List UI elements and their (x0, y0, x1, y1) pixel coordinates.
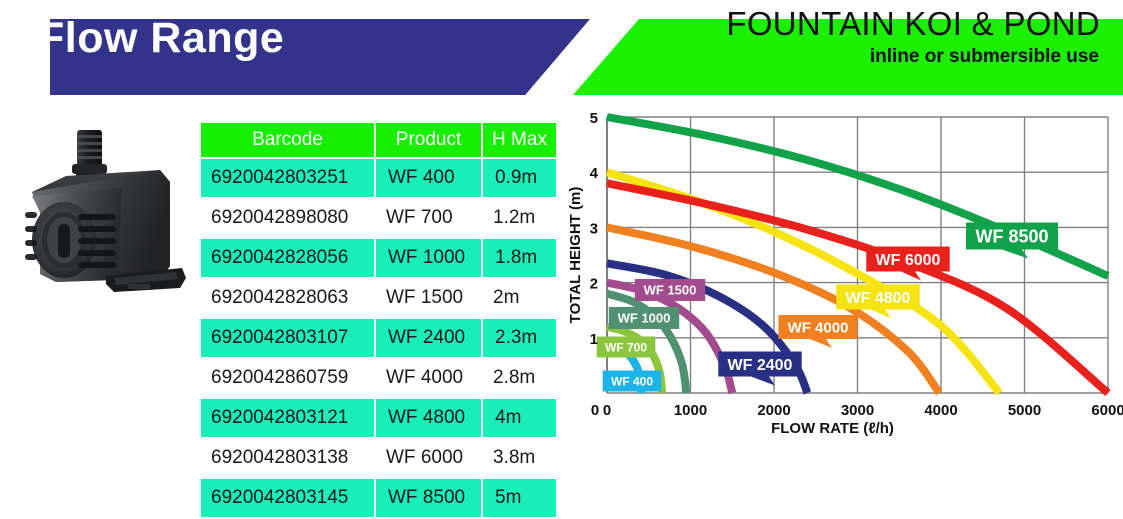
badge-label: WF 8500 (975, 226, 1048, 246)
table-row: 6920042828056WF 10001.8m (201, 239, 556, 277)
cell-barcode: 6920042803251 (201, 159, 374, 197)
badge-label: WF 4800 (846, 290, 911, 307)
column-header-barcode: Barcode (201, 123, 374, 157)
badge-wf-700: WF 700 (597, 337, 656, 358)
cell-hmax: 2m (481, 279, 556, 317)
pump-intake-slot (58, 224, 70, 258)
brand-title: FOUNTAIN KOI & POND (726, 4, 1100, 44)
chart-series-badges: WF 400WF 700WF 1000WF 1500WF 2400WF 4000… (597, 223, 1058, 392)
cell-product: WF 8500 (374, 479, 481, 517)
badge-wf-4800: WF 4800 (836, 285, 919, 319)
cell-product: WF 1000 (374, 239, 481, 277)
y-tick-label: 0 (591, 402, 599, 419)
x-tick-label: 2000 (757, 402, 790, 419)
x-tick-label: 0 (603, 402, 611, 419)
badge-tail (871, 310, 891, 319)
cell-hmax: 0.9m (481, 159, 556, 197)
cell-hmax: 1.2m (481, 199, 556, 237)
cell-hmax: 2.3m (481, 319, 556, 357)
badge-wf-1000: WF 1000 (609, 307, 679, 329)
table-header-row: Barcode Product H Max (201, 123, 556, 157)
cell-hmax: 5m (481, 479, 556, 517)
cell-barcode: 6920042803145 (201, 479, 374, 517)
badge-tail (751, 377, 775, 386)
table-header: Barcode Product H Max (201, 123, 556, 157)
y-tick-label: 3 (590, 220, 598, 237)
table-row: 6920042803251WF 4000.9m (201, 159, 556, 197)
badge-label: WF 2400 (728, 357, 793, 374)
cell-barcode: 6920042803138 (201, 439, 374, 477)
badge-wf-1500: WF 1500 (635, 279, 705, 301)
table-body: 6920042803251WF 4000.9m6920042898080WF 7… (201, 159, 556, 517)
badge-tail (810, 339, 832, 348)
x-axis-title: FLOW RATE (ℓ/h) (771, 420, 894, 437)
chart-gridlines (607, 117, 1108, 393)
x-tick-label: 3000 (841, 402, 874, 419)
table-row: 6920042803121WF 48004m (201, 399, 556, 437)
cell-barcode: 6920042803121 (201, 399, 374, 437)
chart-svg: WF 400WF 700WF 1000WF 1500WF 2400WF 4000… (560, 104, 1123, 505)
badge-label: WF 4000 (788, 319, 849, 336)
cell-product: WF 400 (374, 159, 481, 197)
cell-hmax: 1.8m (481, 239, 556, 277)
brand-subtitle: inline or submersible use (870, 45, 1099, 69)
cell-hmax: 3.8m (481, 439, 556, 477)
cell-hmax: 2.8m (481, 359, 556, 397)
x-tick-label: 1000 (674, 402, 707, 419)
cell-product: WF 6000 (374, 439, 481, 477)
cell-barcode: 6920042898080 (201, 199, 374, 237)
cell-product: WF 2400 (374, 319, 481, 357)
column-header-hmax: H Max (481, 123, 556, 157)
x-tick-label: 4000 (924, 402, 957, 419)
table-row: 6920042898080WF 7001.2m (201, 199, 556, 237)
column-header-product: Product (374, 123, 481, 157)
cell-barcode: 6920042860759 (201, 359, 374, 397)
y-tick-label: 2 (590, 276, 598, 293)
cell-product: WF 4000 (374, 359, 481, 397)
y-tick-label: 1 (590, 331, 598, 348)
page-header: Flow Range FOUNTAIN KOI & POND inline or… (0, 0, 1123, 104)
badge-tail (901, 272, 921, 281)
badge-label: WF 1000 (618, 311, 671, 326)
badge-label: WF 400 (611, 374, 653, 388)
table-row: 6920042860759WF 40002.8m (201, 359, 556, 397)
badge-label: WF 700 (605, 340, 647, 354)
y-tick-label: 5 (590, 110, 598, 127)
cell-barcode: 6920042828063 (201, 279, 374, 317)
table-row: 6920042828063WF 15002m (201, 279, 556, 317)
page-title: Flow Range (38, 12, 284, 64)
performance-curve-chart: WF 400WF 700WF 1000WF 1500WF 2400WF 4000… (560, 104, 1123, 505)
cell-product: WF 4800 (374, 399, 481, 437)
badge-wf-8500: WF 8500 (966, 223, 1058, 259)
cell-product: WF 700 (374, 199, 481, 237)
specification-table: Barcode Product H Max 6920042803251WF 40… (201, 121, 556, 519)
cell-barcode: 6920042803107 (201, 319, 374, 357)
badge-label: WF 1500 (644, 283, 697, 298)
badge-wf-400: WF 400 (603, 371, 662, 392)
badge-label: WF 6000 (876, 252, 941, 269)
table-row: 6920042803138WF 60003.8m (201, 439, 556, 477)
x-tick-label: 5000 (1008, 402, 1041, 419)
y-tick-label: 4 (590, 165, 599, 182)
table-row: 6920042803107WF 24002.3m (201, 319, 556, 357)
badge-wf-4000: WF 4000 (778, 315, 857, 348)
cell-product: WF 1500 (374, 279, 481, 317)
table-row: 6920042803145WF 85005m (201, 479, 556, 517)
cell-barcode: 6920042828056 (201, 239, 374, 277)
x-tick-label: 6000 (1091, 402, 1123, 419)
cell-hmax: 4m (481, 399, 556, 437)
pump-product-image (10, 126, 190, 296)
y-axis-title: TOTAL HEIGHT (m) (567, 187, 584, 324)
